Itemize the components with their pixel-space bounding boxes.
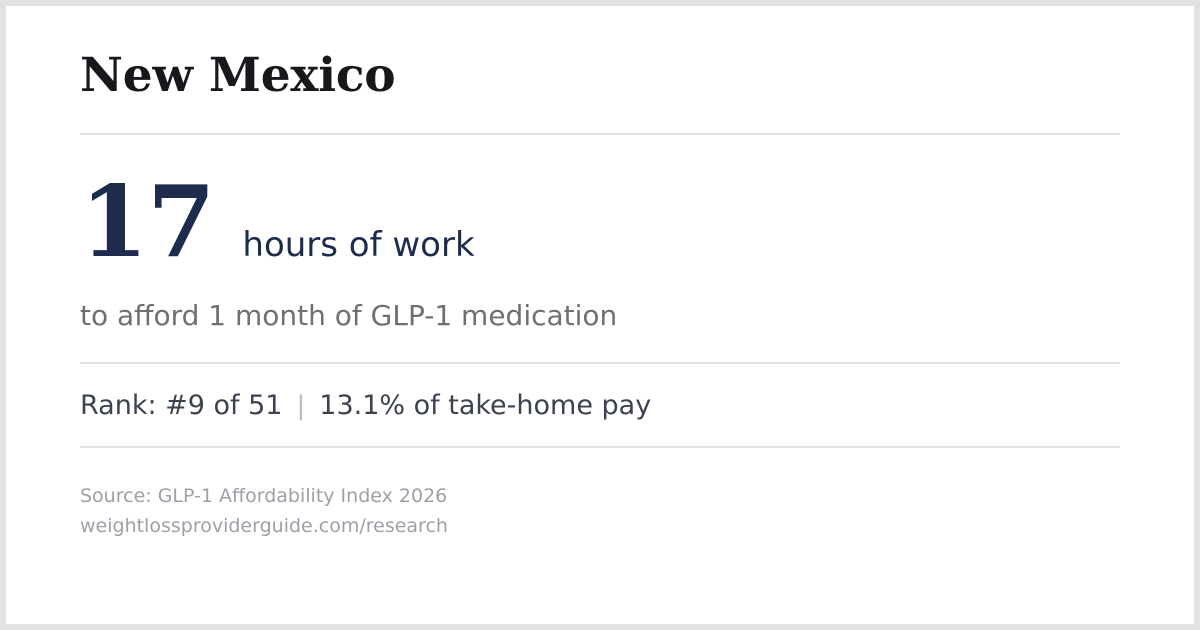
divider-below-rank bbox=[80, 446, 1120, 448]
rank-separator: | bbox=[297, 391, 306, 422]
source-block: Source: GLP-1 Affordability Index 2026 w… bbox=[80, 481, 448, 541]
stat-caption: to afford 1 month of GLP-1 medication bbox=[80, 299, 617, 333]
stat-value: 17 bbox=[80, 174, 214, 272]
take-home-share-label: 13.1% of take-home pay bbox=[319, 390, 651, 422]
stat-unit-label: hours of work bbox=[242, 228, 474, 262]
stat-card: New Mexico 17 hours of work to afford 1 … bbox=[6, 6, 1194, 624]
rank-label: Rank: #9 of 51 bbox=[80, 390, 283, 422]
source-citation: Source: GLP-1 Affordability Index 2026 bbox=[80, 481, 448, 511]
page-title: New Mexico bbox=[80, 52, 395, 99]
card-content: New Mexico 17 hours of work to afford 1 … bbox=[80, 6, 1120, 624]
divider-under-title bbox=[80, 133, 1120, 135]
hero-stat: 17 hours of work bbox=[80, 174, 475, 272]
rank-row: Rank: #9 of 51 | 13.1% of take-home pay bbox=[80, 390, 651, 422]
outer-frame: New Mexico 17 hours of work to afford 1 … bbox=[0, 0, 1200, 630]
source-url: weightlossproviderguide.com/research bbox=[80, 511, 448, 541]
divider-above-rank bbox=[80, 362, 1120, 364]
